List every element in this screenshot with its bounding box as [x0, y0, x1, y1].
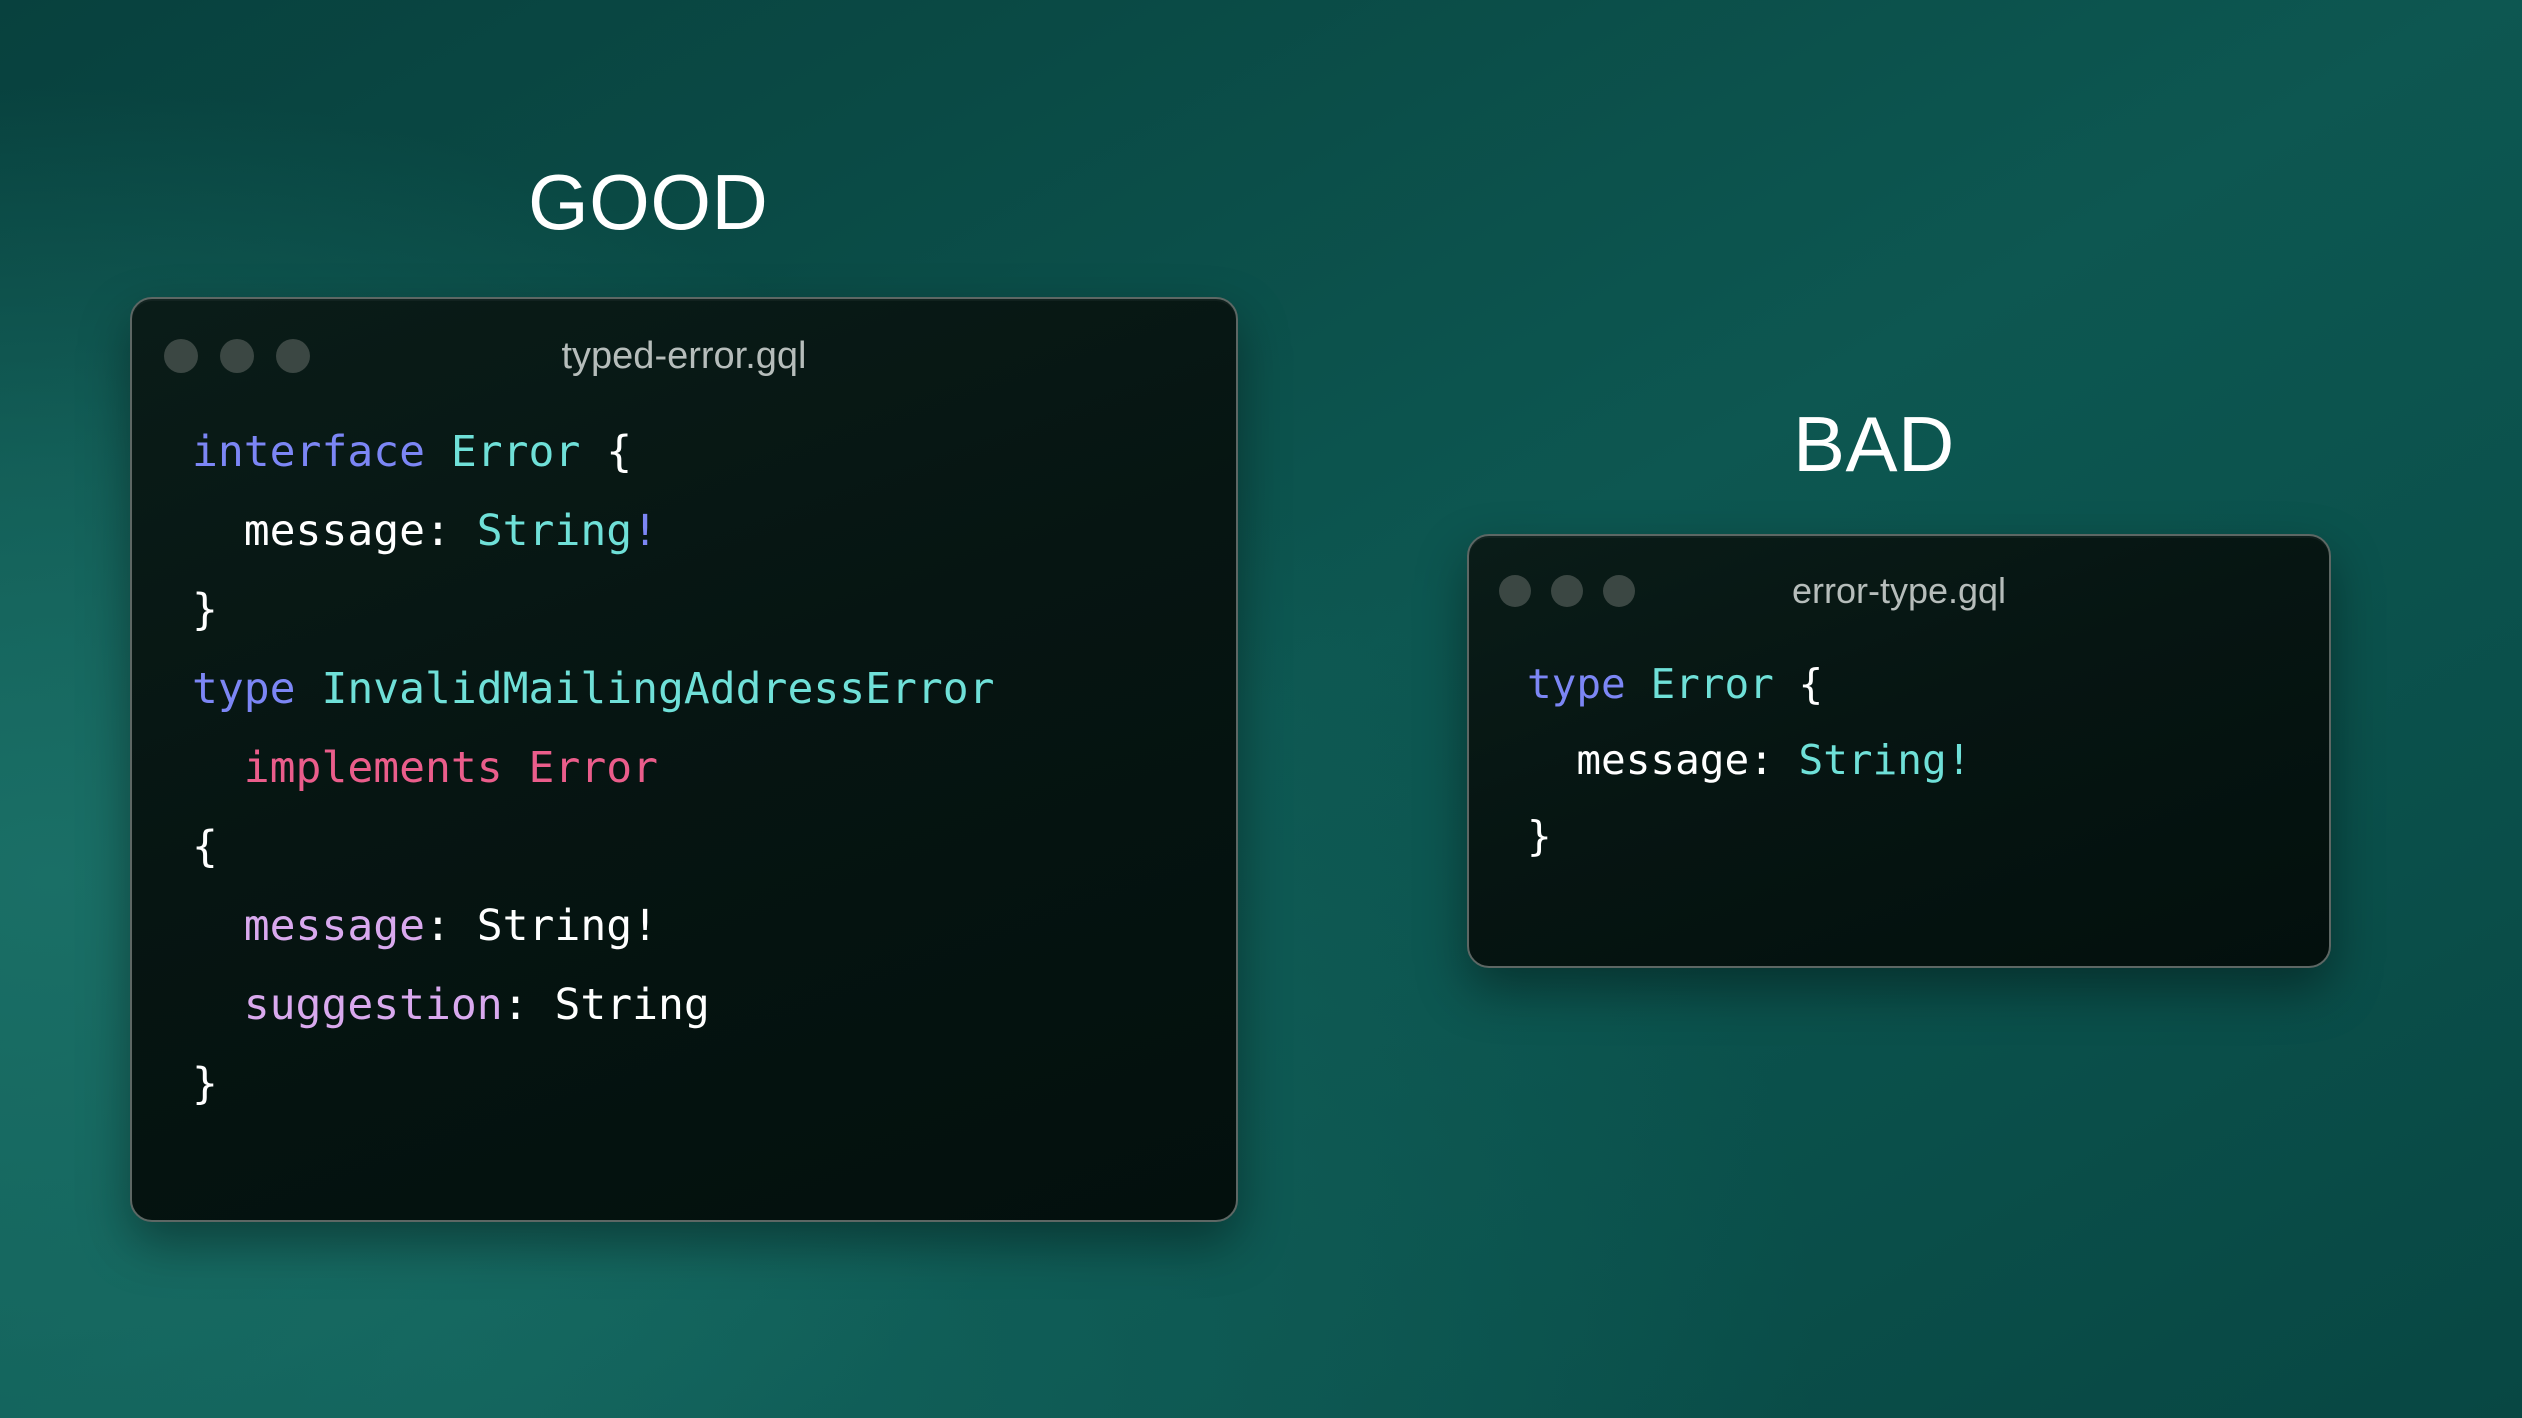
- bad-label: BAD: [1793, 405, 1955, 483]
- code-token-plain: [192, 980, 244, 1030]
- code-token-field-white: message: [1576, 736, 1749, 784]
- code-token-punctuation: {: [606, 427, 632, 477]
- code-token-punctuation: :: [503, 980, 555, 1030]
- code-line: type InvalidMailingAddressError: [192, 650, 1236, 729]
- code-token-keyword: type: [1527, 660, 1626, 708]
- code-line: }: [192, 571, 1236, 650]
- code-token-punctuation: }: [192, 1059, 218, 1109]
- code-token-punctuation: :: [425, 506, 477, 556]
- code-token-scalar-white: String: [554, 980, 709, 1030]
- code-line: message: String!: [192, 492, 1236, 571]
- maximize-dot[interactable]: [1603, 575, 1635, 607]
- code-line: }: [192, 1045, 1236, 1124]
- code-token-bang-blue: !: [632, 506, 658, 556]
- code-token-scalar-white: String!: [477, 901, 658, 951]
- close-dot[interactable]: [1499, 575, 1531, 607]
- code-line: interface Error {: [192, 413, 1236, 492]
- code-token-plain: [425, 427, 451, 477]
- code-token-type: Error: [451, 427, 580, 477]
- maximize-dot[interactable]: [276, 339, 310, 373]
- code-window-bad: error-type.gql type Error { message: Str…: [1467, 534, 2331, 968]
- code-token-implements-pink: implements Error: [244, 743, 658, 793]
- code-line: suggestion: String: [192, 966, 1236, 1045]
- minimize-dot[interactable]: [220, 339, 254, 373]
- code-token-plain: [1527, 736, 1576, 784]
- code-line: implements Error: [192, 729, 1236, 808]
- code-token-plain: [580, 427, 606, 477]
- code-token-punctuation: }: [1527, 812, 1552, 860]
- code-token-keyword: type: [192, 664, 296, 714]
- code-line: }: [1527, 798, 2329, 874]
- minimize-dot[interactable]: [1551, 575, 1583, 607]
- window-titlebar-bad: error-type.gql: [1469, 536, 2329, 646]
- code-token-punctuation: :: [1749, 736, 1798, 784]
- code-token-plain: [1774, 660, 1799, 708]
- code-token-type: InvalidMailingAddressError: [321, 664, 994, 714]
- code-token-scalar-cyan: String: [477, 506, 632, 556]
- code-token-field-white: message: [244, 506, 425, 556]
- code-token-punctuation: {: [1799, 660, 1824, 708]
- code-line: {: [192, 808, 1236, 887]
- code-token-plain: [192, 901, 244, 951]
- close-dot[interactable]: [164, 339, 198, 373]
- code-token-scalar-cyan: String!: [1799, 736, 1972, 784]
- code-token-plain: [192, 506, 244, 556]
- code-line: type Error {: [1527, 646, 2329, 722]
- window-titlebar-good: typed-error.gql: [132, 299, 1236, 413]
- code-line: message: String!: [1527, 722, 2329, 798]
- slide-canvas: GOOD BAD typed-error.gql interface Error…: [0, 0, 2522, 1418]
- code-line: message: String!: [192, 887, 1236, 966]
- code-block-good: interface Error { message: String!}type …: [132, 413, 1236, 1124]
- code-token-field-lavender: suggestion: [244, 980, 503, 1030]
- code-token-plain: [192, 743, 244, 793]
- code-token-type: Error: [1650, 660, 1773, 708]
- code-token-punctuation: }: [192, 585, 218, 635]
- code-token-punctuation: :: [425, 901, 477, 951]
- code-token-keyword: interface: [192, 427, 425, 477]
- code-token-punctuation: {: [192, 822, 218, 872]
- code-token-plain: [1626, 660, 1651, 708]
- code-block-bad: type Error { message: String!}: [1469, 646, 2329, 874]
- code-token-field-lavender: message: [244, 901, 425, 951]
- traffic-lights-good: [164, 339, 310, 373]
- code-token-plain: [296, 664, 322, 714]
- code-window-good: typed-error.gql interface Error { messag…: [130, 297, 1238, 1222]
- good-label: GOOD: [528, 163, 768, 241]
- traffic-lights-bad: [1499, 575, 1635, 607]
